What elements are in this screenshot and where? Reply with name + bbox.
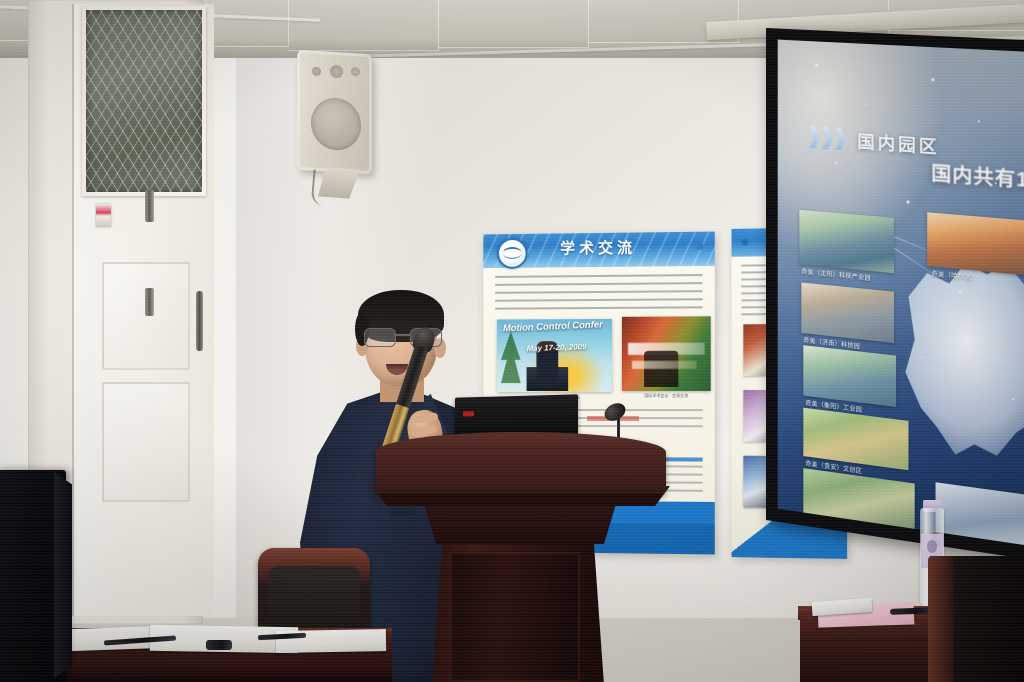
slide-heading: 国内园区 — [857, 127, 939, 158]
projection-screen: 国内园区 国内共有1 奇美（沈阳）科技产业园 奇美（哈尔滨） 奇美（济南）科技园… — [766, 28, 1024, 560]
photo-overlay-date: May 17-20, 2009 — [526, 342, 586, 353]
institute-seal-icon — [497, 238, 528, 269]
poster-caption-right: 国际学术会议 · 会场交流 — [624, 393, 709, 398]
door-hinge — [145, 190, 154, 222]
double-chevron-right-icon — [809, 126, 851, 151]
lectern — [372, 432, 672, 682]
monitor-edge — [54, 472, 72, 678]
photo-overlay-title: Motion Control Confer — [503, 319, 610, 334]
slide-thumbnail — [927, 212, 1024, 275]
poster-body-text — [495, 274, 703, 312]
conference-room-photo: 学术交流 Motion Control Confer May 17-20, 20… — [0, 0, 1024, 682]
slide-thumbnail — [803, 345, 896, 407]
laptop-logo-icon — [463, 411, 474, 416]
door-sticker — [96, 204, 111, 227]
slide-thumbnail — [801, 283, 894, 344]
poster-dot — [697, 243, 704, 250]
poster-side-dot — [741, 239, 748, 246]
wall-speaker — [297, 50, 372, 175]
slide-subheading: 国内共有1 — [931, 158, 1024, 193]
door-wire-glass — [86, 10, 202, 192]
door-hinge — [145, 288, 154, 316]
pen-cap — [206, 640, 232, 650]
bench-post — [928, 556, 954, 682]
projected-slide: 国内园区 国内共有1 奇美（沈阳）科技产业园 奇美（哈尔滨） 奇美（济南）科技园… — [778, 40, 1024, 547]
slide-thumbnail — [799, 210, 894, 273]
door-leaf — [72, 4, 214, 616]
lectern-desktop — [376, 432, 666, 494]
poster-photo-right — [622, 316, 711, 391]
door-handle[interactable] — [196, 291, 203, 351]
